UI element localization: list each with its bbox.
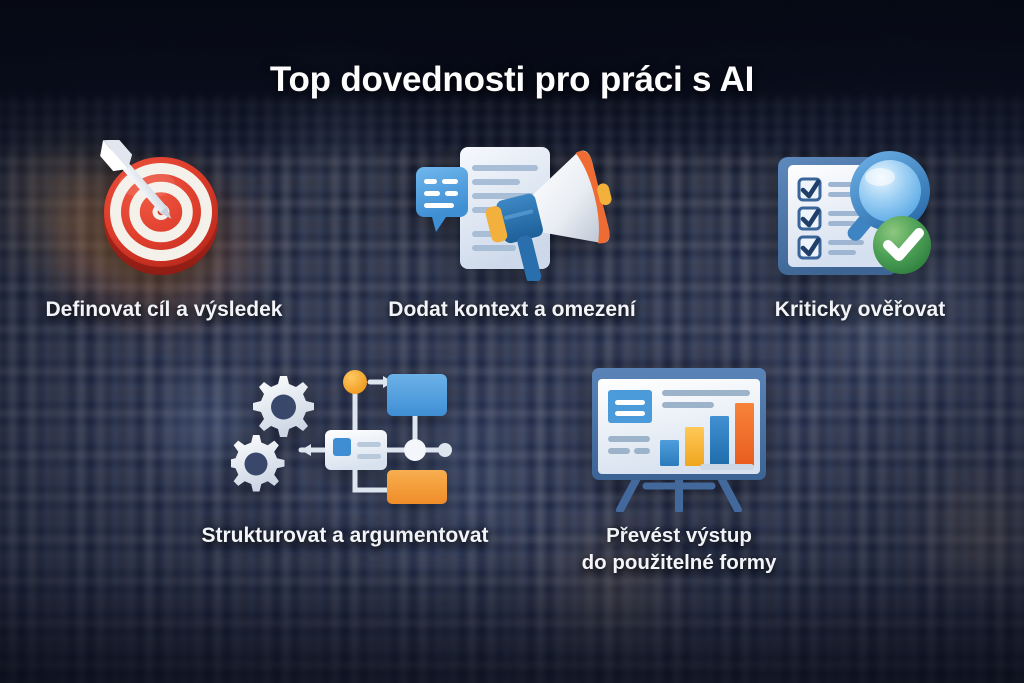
skill-card-provide-context[interactable]: Dodat kontext a omezení <box>362 136 662 324</box>
skill-label: Kriticky ověřovat <box>775 296 945 324</box>
skill-label: Převést výstup do použitelné formy <box>582 522 777 576</box>
document-megaphone-icon <box>362 136 662 284</box>
skill-label: Dodat kontext a omezení <box>388 296 635 324</box>
skill-card-structure-argue[interactable]: Strukturovat a argumentovat <box>200 362 490 576</box>
infographic-canvas: Top dovednosti pro práci s AI <box>0 0 1024 683</box>
skills-row-one: Definovat cíl a výsledek <box>0 136 1024 324</box>
skill-card-verify-critically[interactable]: Kriticky ověřovat <box>710 136 1010 324</box>
gears-flowchart-icon <box>200 362 490 510</box>
skill-label: Definovat cíl a výsledek <box>46 296 283 324</box>
skills-row-two: Strukturovat a argumentovat <box>0 362 1024 576</box>
skill-label: Strukturovat a argumentovat <box>201 522 488 550</box>
presentation-barchart-icon <box>534 362 824 510</box>
page-title: Top dovednosti pro práci s AI <box>0 60 1024 100</box>
checklist-magnifier-check-icon <box>710 136 1010 284</box>
skill-card-convert-output[interactable]: Převést výstup do použitelné formy <box>534 362 824 576</box>
skill-card-define-goal[interactable]: Definovat cíl a výsledek <box>14 136 314 324</box>
target-arrow-icon <box>14 136 314 284</box>
